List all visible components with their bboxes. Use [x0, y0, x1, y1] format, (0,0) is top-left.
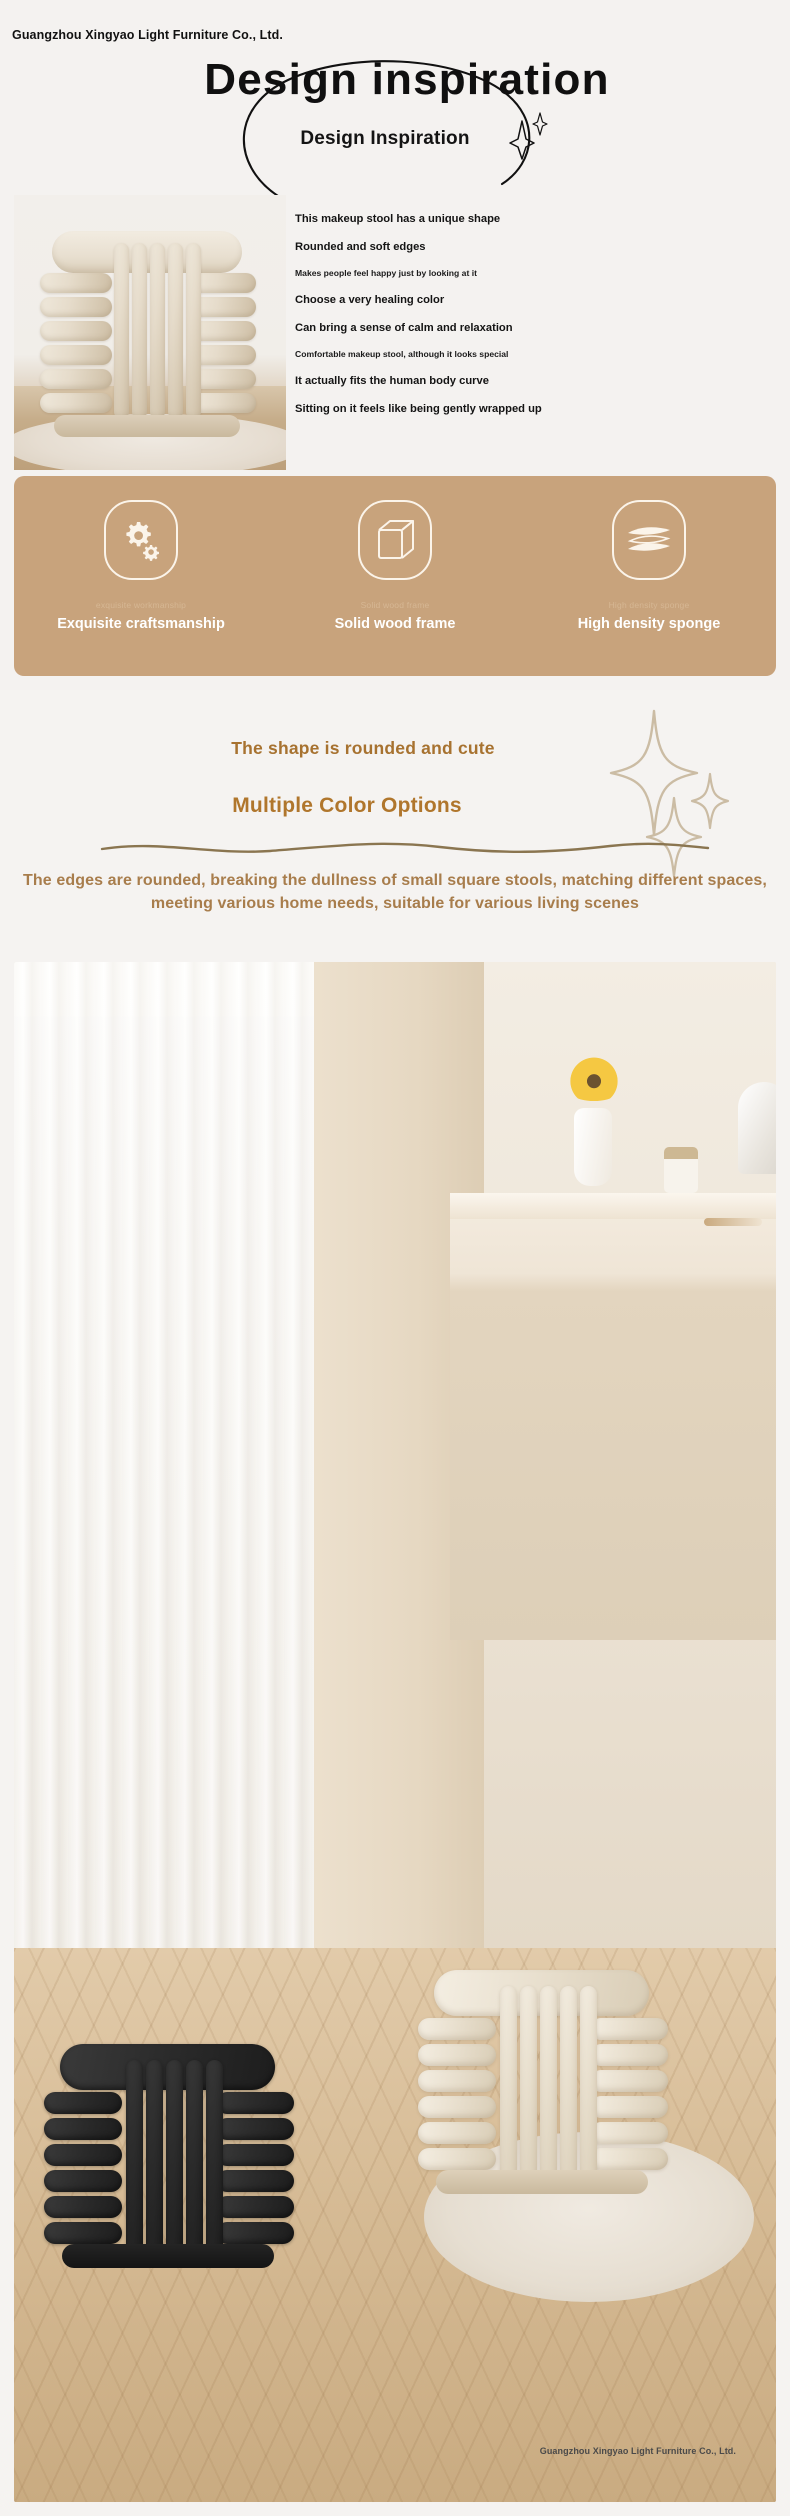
color-options-section: The shape is rounded and cute Multiple C… — [0, 690, 790, 960]
feature-label: Solid wood frame — [335, 616, 456, 632]
vase-decor — [574, 1108, 612, 1186]
feature-line: Can bring a sense of calm and relaxation — [295, 321, 557, 336]
feature-faint-label: Solid wood frame — [361, 600, 430, 610]
feature-line: Comfortable makeup stool, although it lo… — [295, 349, 557, 361]
stool-cream — [418, 1970, 668, 2195]
feature-label: Exquisite craftsmanship — [57, 616, 225, 632]
feature-line: Sitting on it feels like being gently wr… — [295, 402, 557, 417]
cube-icon — [374, 518, 416, 562]
stool-base — [54, 415, 240, 437]
makeup-brush-decor — [704, 1218, 762, 1226]
page-subtitle: Design Inspiration — [0, 128, 780, 150]
knotted-stool-illustration — [38, 229, 256, 434]
feature-faint-label: High density sponge — [609, 600, 690, 610]
color-section-line2: Multiple Color Options — [0, 794, 742, 818]
color-section-line1: The shape is rounded and cute — [0, 738, 758, 759]
stool-top-cushion — [52, 231, 242, 273]
feature-line: It actually fits the human body curve — [295, 374, 557, 389]
feature-band-item: Solid wood frame Solid wood frame — [268, 476, 522, 676]
gears-icon — [119, 518, 163, 562]
wavy-divider — [100, 838, 710, 858]
feature-band-item: High density sponge High density sponge — [522, 476, 776, 676]
feature-text-list: This makeup stool has a unique shape Rou… — [295, 212, 557, 417]
scene-curtain — [14, 962, 314, 1948]
hero-section: Guangzhou Xingyao Light Furniture Co., L… — [0, 0, 790, 690]
sparkle-small-icon — [532, 112, 548, 136]
product-photo — [14, 195, 286, 470]
feature-label: High density sponge — [578, 616, 721, 632]
layers-icon — [626, 523, 672, 557]
lifestyle-photo: Guangzhou Xingyao Light Furniture Co., L… — [14, 962, 776, 2502]
cosmetic-jar-decor — [664, 1147, 698, 1193]
layers-icon-frame — [612, 500, 686, 580]
scene-desk-top — [450, 1193, 776, 1219]
gears-icon-frame — [104, 500, 178, 580]
feature-line: Choose a very healing color — [295, 293, 557, 308]
feature-band-item: exquisite workmanship Exquisite craftsma… — [14, 476, 268, 676]
feature-faint-label: exquisite workmanship — [96, 600, 186, 610]
color-section-paragraph: The edges are rounded, breaking the dull… — [20, 870, 770, 915]
feature-line: Makes people feel happy just by looking … — [295, 268, 557, 280]
stool-black — [44, 2044, 294, 2269]
feature-line: Rounded and soft edges — [295, 240, 557, 255]
feature-band: exquisite workmanship Exquisite craftsma… — [14, 476, 776, 676]
feature-line: This makeup stool has a unique shape — [295, 212, 557, 227]
title-block: Design inspiration Design Inspiration — [0, 36, 790, 166]
footer-watermark: Guangzhou Xingyao Light Furniture Co., L… — [540, 2446, 736, 2456]
scene-vanity-desk — [450, 1193, 776, 1640]
vanity-mirror — [738, 1082, 776, 1174]
page-title: Design inspiration — [12, 58, 790, 102]
cube-icon-frame — [358, 500, 432, 580]
